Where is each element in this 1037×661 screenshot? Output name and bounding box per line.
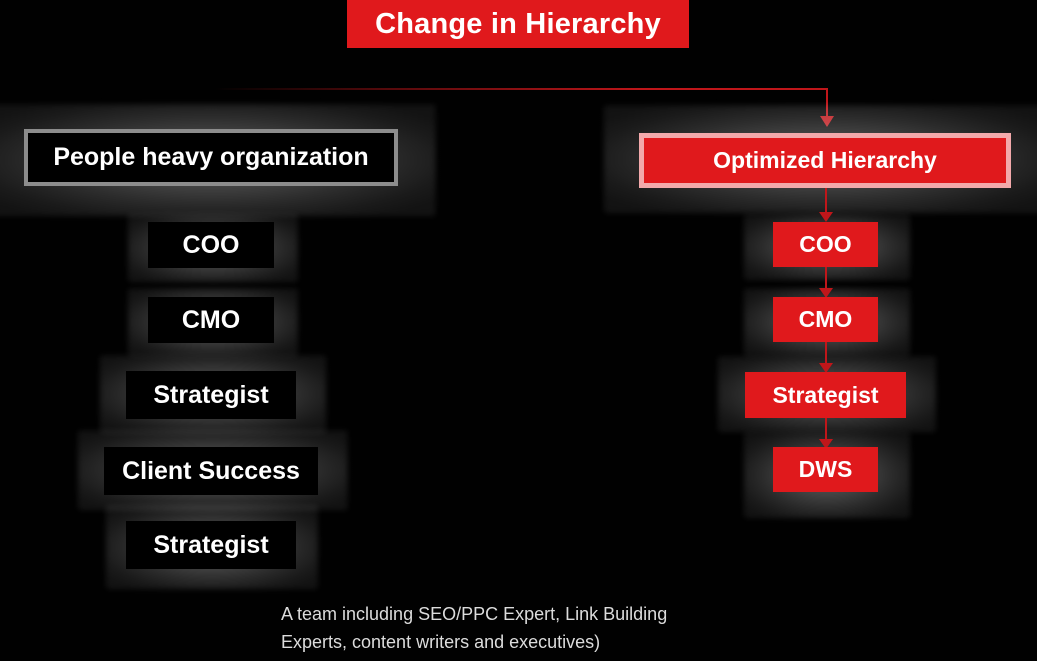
left-head-label: People heavy organization xyxy=(53,143,368,172)
left-node-client-success[interactable]: Client Success xyxy=(104,447,318,495)
left-node-cmo-label: CMO xyxy=(182,306,240,335)
caption-line-1: A team including SEO/PPC Expert, Link Bu… xyxy=(281,600,801,628)
title-to-right-connector-line xyxy=(215,88,828,90)
caption-block: A team including SEO/PPC Expert, Link Bu… xyxy=(281,600,801,656)
slide-title-bar: Change in Hierarchy xyxy=(347,0,689,48)
title-to-right-connector-arrowhead xyxy=(820,116,834,127)
right-node-cmo[interactable]: CMO xyxy=(773,297,878,342)
caption-line-2: Experts, content writers and executives) xyxy=(281,628,801,656)
title-to-right-connector-drop xyxy=(826,88,828,118)
right-node-cmo-label: CMO xyxy=(799,306,853,333)
right-node-dws-label: DWS xyxy=(799,456,853,483)
right-head-box[interactable]: Optimized Hierarchy xyxy=(639,133,1011,188)
right-node-coo[interactable]: COO xyxy=(773,222,878,267)
right-node-strategist[interactable]: Strategist xyxy=(745,372,906,418)
right-node-dws[interactable]: DWS xyxy=(773,447,878,492)
left-node-coo-label: COO xyxy=(183,231,240,260)
left-node-cmo[interactable]: CMO xyxy=(148,297,274,343)
left-node-client-success-label: Client Success xyxy=(122,457,300,486)
right-node-strategist-label: Strategist xyxy=(772,382,878,409)
left-node-strategist-2-label: Strategist xyxy=(153,531,268,560)
right-arrow-head-to-coo-line xyxy=(825,188,827,215)
left-node-strategist-2[interactable]: Strategist xyxy=(126,521,296,569)
right-node-coo-label: COO xyxy=(799,231,851,258)
right-head-label: Optimized Hierarchy xyxy=(713,147,937,174)
slide-title-text: Change in Hierarchy xyxy=(375,8,661,41)
left-node-coo[interactable]: COO xyxy=(148,222,274,268)
slide-canvas: Change in Hierarchy People heavy organiz… xyxy=(0,0,1037,661)
right-arrow-head-to-coo-tip xyxy=(819,212,833,222)
left-node-strategist-1-label: Strategist xyxy=(153,381,268,410)
left-head-box[interactable]: People heavy organization xyxy=(24,129,398,186)
left-node-strategist-1[interactable]: Strategist xyxy=(126,371,296,419)
